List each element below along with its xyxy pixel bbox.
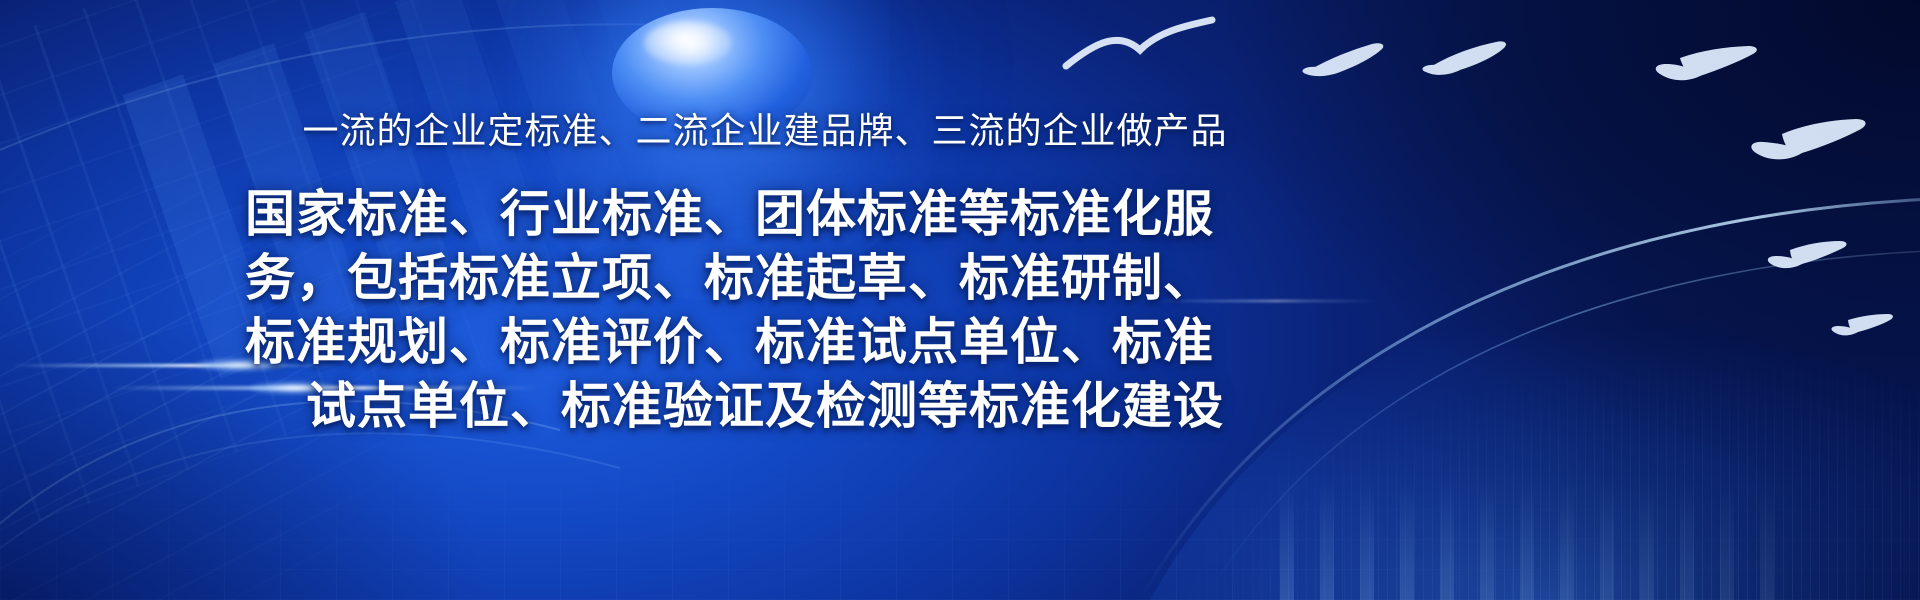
banner-body: 国家标准、行业标准、团体标准等标准化服 务，包括标准立项、标准起草、标准研制、 … [245, 182, 1285, 438]
banner-text: 一流的企业定标准、二流企业建品牌、三流的企业做产品 国家标准、行业标准、团体标准… [0, 0, 1530, 600]
banner-body-line: 国家标准、行业标准、团体标准等标准化服 [245, 182, 1285, 246]
banner-body-line: 试点单位、标准验证及检测等标准化建设 [245, 374, 1285, 438]
promo-banner: 一流的企业定标准、二流企业建品牌、三流的企业做产品 国家标准、行业标准、团体标准… [0, 0, 1920, 600]
banner-headline: 一流的企业定标准、二流企业建品牌、三流的企业做产品 [302, 112, 1227, 152]
banner-body-line: 务，包括标准立项、标准起草、标准研制、 [245, 246, 1285, 310]
banner-body-line: 标准规划、标准评价、标准试点单位、标准 [245, 310, 1285, 374]
